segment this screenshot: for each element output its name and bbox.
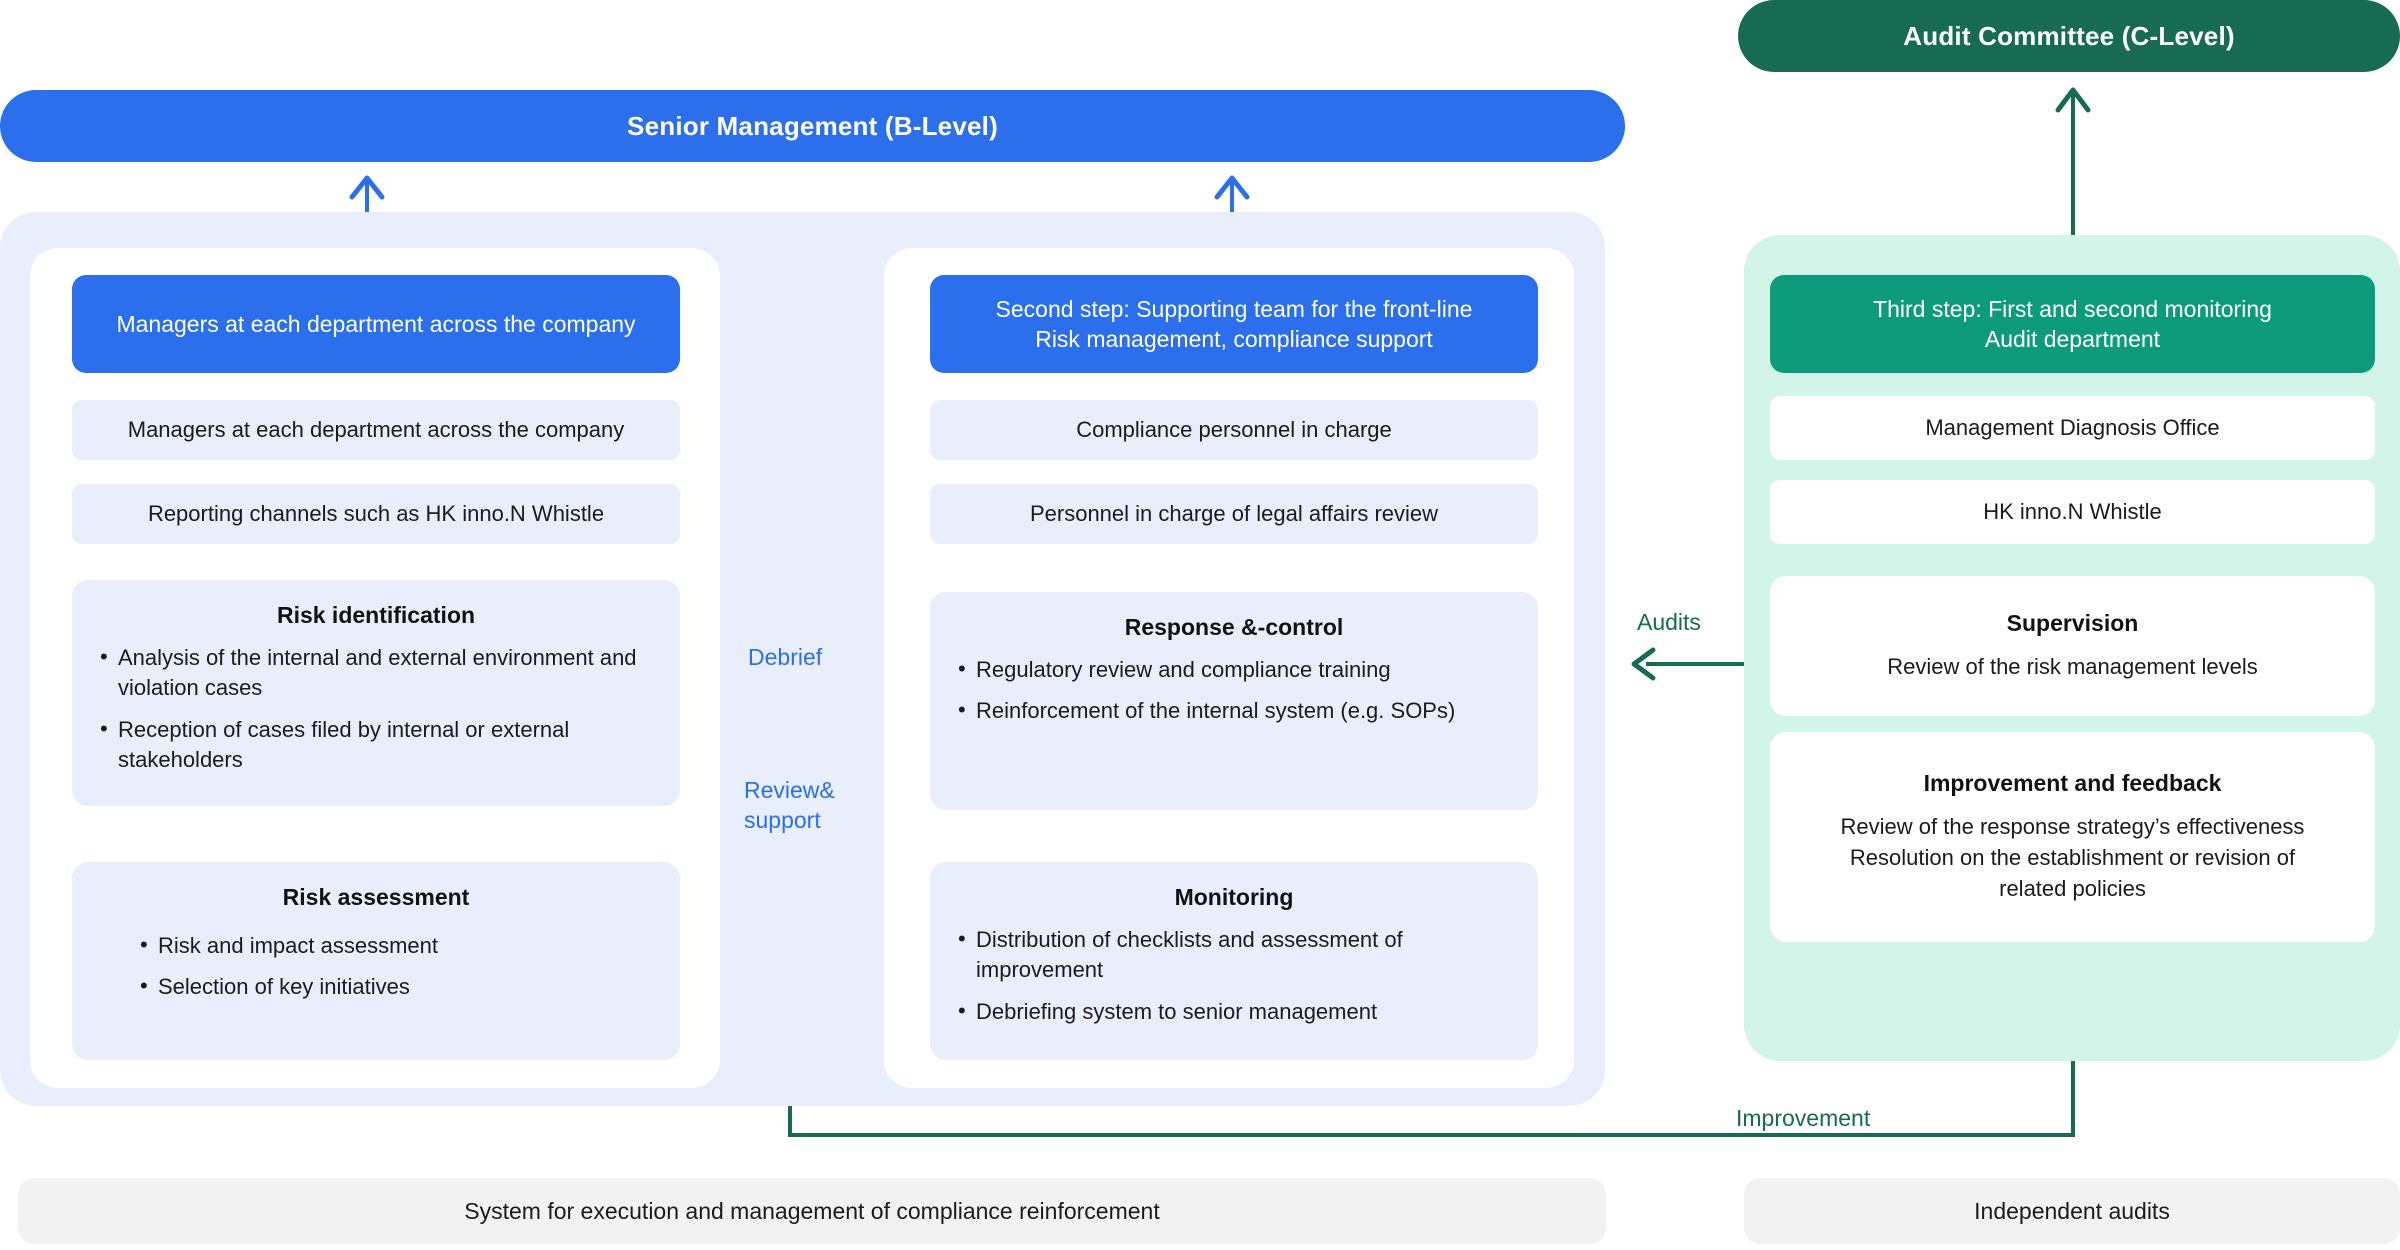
third-column-header: Third step: First and second monitoring … bbox=[1770, 275, 2375, 373]
second-column-row-1: Personnel in charge of legal affairs rev… bbox=[930, 484, 1538, 544]
monitoring-bullets: Distribution of checklists and assessmen… bbox=[956, 925, 1512, 1027]
third-column-row-1-label: HK inno.N Whistle bbox=[1983, 499, 2162, 525]
monitoring-title: Monitoring bbox=[956, 884, 1512, 911]
senior-management-banner: Senior Management (B-Level) bbox=[0, 90, 1625, 162]
supervision-body: Review of the risk management levels bbox=[1887, 651, 2258, 682]
improvement-label: Improvement bbox=[1736, 1104, 1996, 1133]
list-item: Reception of cases filed by internal or … bbox=[98, 715, 654, 776]
review-support-label-line1: Review& bbox=[744, 776, 914, 805]
third-column-row-1: HK inno.N Whistle bbox=[1770, 480, 2375, 544]
footer-left: System for execution and management of c… bbox=[18, 1178, 1606, 1244]
review-support-label-line2: support bbox=[744, 806, 914, 835]
risk-identification-title: Risk identification bbox=[98, 602, 654, 629]
footer-left-label: System for execution and management of c… bbox=[464, 1198, 1159, 1225]
risk-assessment-bullets: Risk and impact assessment Selection of … bbox=[98, 931, 654, 1003]
supervision-box: Supervision Review of the risk managemen… bbox=[1770, 576, 2375, 716]
supervision-title: Supervision bbox=[2007, 610, 2139, 637]
list-item: Analysis of the internal and external en… bbox=[98, 643, 654, 704]
improvement-feedback-box: Improvement and feedback Review of the r… bbox=[1770, 732, 2375, 942]
risk-identification-bullets: Analysis of the internal and external en… bbox=[98, 643, 654, 775]
first-column-row-0: Managers at each department across the c… bbox=[72, 400, 680, 460]
risk-assessment-title: Risk assessment bbox=[98, 884, 654, 911]
improvement-feedback-line2: Resolution on the establishment or revis… bbox=[1850, 842, 2295, 873]
third-column-header-line2: Audit department bbox=[1985, 324, 2160, 354]
list-item: Selection of key initiatives bbox=[138, 972, 654, 1002]
footer-right: Independent audits bbox=[1744, 1178, 2400, 1244]
footer-right-label: Independent audits bbox=[1974, 1198, 2170, 1225]
second-column-row-0: Compliance personnel in charge bbox=[930, 400, 1538, 460]
audit-committee-label: Audit Committee (C-Level) bbox=[1903, 21, 2234, 52]
third-column-header-line1: Third step: First and second monitoring bbox=[1873, 294, 2272, 324]
risk-assessment-box: Risk assessment Risk and impact assessme… bbox=[72, 862, 680, 1060]
first-column-header-label: Managers at each department across the c… bbox=[116, 309, 635, 339]
audits-label: Audits bbox=[1637, 608, 1817, 637]
risk-identification-box: Risk identification Analysis of the inte… bbox=[72, 580, 680, 806]
second-column-header: Second step: Supporting team for the fro… bbox=[930, 275, 1538, 373]
improvement-feedback-line3: related policies bbox=[1999, 873, 2146, 904]
list-item: Risk and impact assessment bbox=[138, 931, 654, 961]
second-column-header-line1: Second step: Supporting team for the fro… bbox=[996, 294, 1473, 324]
third-column-row-0-label: Management Diagnosis Office bbox=[1925, 415, 2219, 441]
audit-committee-banner: Audit Committee (C-Level) bbox=[1738, 0, 2400, 72]
list-item: Debriefing system to senior management bbox=[956, 997, 1512, 1027]
arrow-audits bbox=[1634, 650, 1746, 678]
list-item: Reinforcement of the internal system (e.… bbox=[956, 696, 1512, 726]
first-column-row-0-label: Managers at each department across the c… bbox=[128, 417, 625, 443]
senior-management-label: Senior Management (B-Level) bbox=[627, 111, 998, 142]
diagram-root: Senior Management (B-Level) Audit Commit… bbox=[0, 0, 2400, 1250]
improvement-feedback-line1: Review of the response strategy’s effect… bbox=[1841, 811, 2305, 842]
first-column-row-1-label: Reporting channels such as HK inno.N Whi… bbox=[148, 501, 604, 527]
debrief-label: Debrief bbox=[748, 643, 918, 672]
first-column-row-1: Reporting channels such as HK inno.N Whi… bbox=[72, 484, 680, 544]
second-column-row-0-label: Compliance personnel in charge bbox=[1076, 417, 1392, 443]
first-column-header: Managers at each department across the c… bbox=[72, 275, 680, 373]
third-column-row-0: Management Diagnosis Office bbox=[1770, 396, 2375, 460]
monitoring-box: Monitoring Distribution of checklists an… bbox=[930, 862, 1538, 1060]
response-control-bullets: Regulatory review and compliance trainin… bbox=[956, 655, 1512, 727]
second-column-header-line2: Risk management, compliance support bbox=[1035, 324, 1433, 354]
improvement-feedback-title: Improvement and feedback bbox=[1924, 770, 2222, 797]
list-item: Distribution of checklists and assessmen… bbox=[956, 925, 1512, 986]
second-column-row-1-label: Personnel in charge of legal affairs rev… bbox=[1030, 501, 1438, 527]
response-control-title: Response &-control bbox=[956, 614, 1512, 641]
list-item: Regulatory review and compliance trainin… bbox=[956, 655, 1512, 685]
response-control-box: Response &-control Regulatory review and… bbox=[930, 592, 1538, 810]
